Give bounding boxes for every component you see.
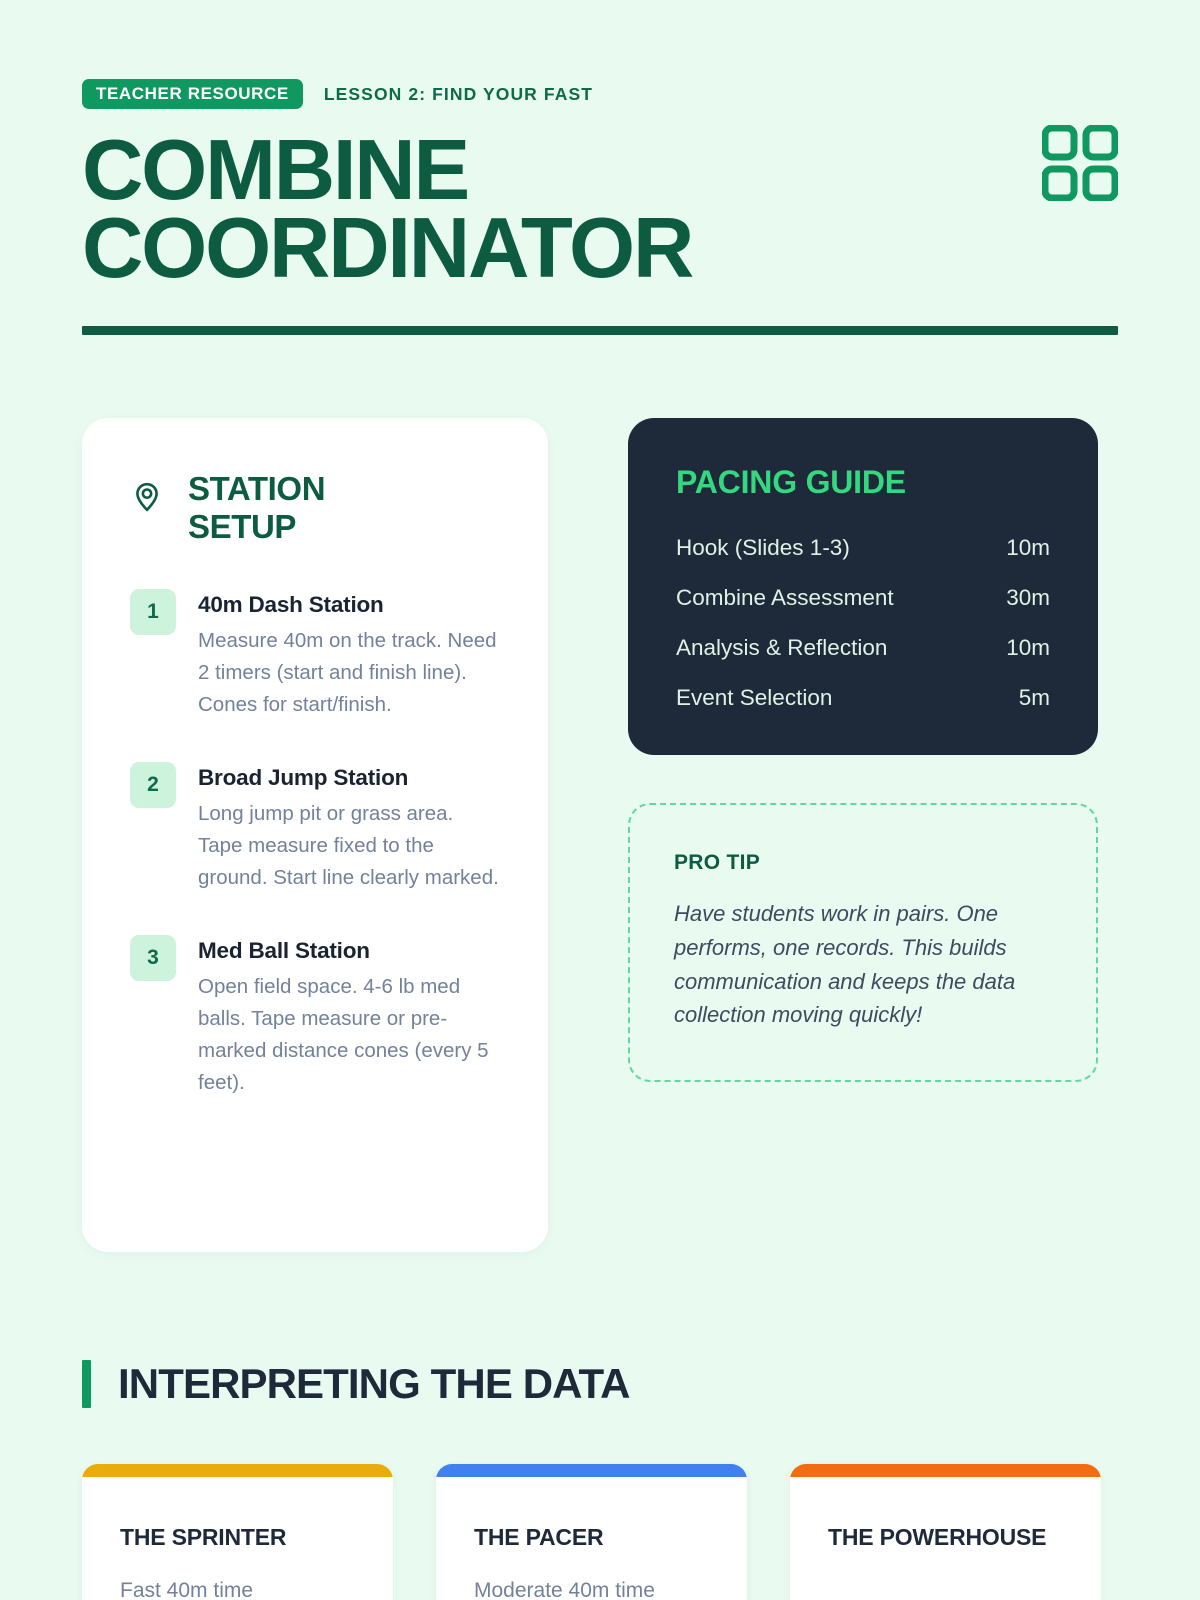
grid-2x2-icon [1042,125,1118,201]
pacing-guide-title: PACING GUIDE [676,464,1050,501]
page-title-line2: COORDINATOR [82,201,692,296]
athlete-type-desc: Fast 40m time [120,1575,355,1600]
header-divider [82,326,1118,335]
left-column: STATION SETUP 1 40m Dash Station Measure… [82,418,548,1252]
station-setup-title-line1: STATION [188,470,325,507]
right-column: PACING GUIDE Hook (Slides 1-3) 10m Combi… [628,418,1098,1252]
pro-tip-box: PRO TIP Have students work in pairs. One… [628,803,1098,1082]
station-number-badge: 3 [130,935,176,981]
main-content: STATION SETUP 1 40m Dash Station Measure… [82,418,1118,1252]
station-item-title: Broad Jump Station [198,765,500,791]
pacing-row-duration: 10m [1006,535,1050,561]
interpreting-section-title: INTERPRETING THE DATA [118,1360,630,1408]
pacing-row: Analysis & Reflection 10m [676,635,1050,661]
pacing-row: Event Selection 5m [676,685,1050,711]
station-item-title: 40m Dash Station [198,592,500,618]
station-item-body: Med Ball Station Open field space. 4-6 l… [198,935,500,1099]
athlete-type-cards: THE SPRINTER Fast 40m time THE PACER Mod… [82,1464,1118,1600]
pacing-row: Combine Assessment 30m [676,585,1050,611]
map-pin-icon [130,480,164,514]
station-item-body: Broad Jump Station Long jump pit or gras… [198,762,500,894]
pacing-row-duration: 10m [1006,635,1050,661]
station-setup-card: STATION SETUP 1 40m Dash Station Measure… [82,418,548,1252]
athlete-type-card-pacer: THE PACER Moderate 40m time [436,1464,747,1600]
page-title: COMBINE COORDINATOR [82,132,842,288]
section-accent-bar [82,1360,91,1408]
athlete-type-card-sprinter: THE SPRINTER Fast 40m time [82,1464,393,1600]
pro-tip-text: Have students work in pairs. One perform… [674,897,1052,1032]
athlete-type-title: THE SPRINTER [120,1523,355,1552]
card-body: THE SPRINTER Fast 40m time [82,1477,393,1600]
card-body: THE POWERHOUSE [790,1477,1101,1600]
pacing-row-label: Event Selection [676,685,832,711]
card-accent-bar [790,1464,1101,1477]
station-item: 1 40m Dash Station Measure 40m on the tr… [130,589,500,721]
station-item-desc: Open field space. 4-6 lb med balls. Tape… [198,971,500,1099]
pacing-guide-card: PACING GUIDE Hook (Slides 1-3) 10m Combi… [628,418,1098,755]
card-accent-bar [436,1464,747,1477]
page-header: TEACHER RESOURCE LESSON 2: FIND YOUR FAS… [82,0,1118,335]
station-setup-header: STATION SETUP [130,470,500,545]
station-item: 3 Med Ball Station Open field space. 4-6… [130,935,500,1099]
pacing-row-label: Hook (Slides 1-3) [676,535,850,561]
station-item-desc: Measure 40m on the track. Need 2 timers … [198,625,500,721]
pacing-row-duration: 30m [1006,585,1050,611]
interpreting-section-header: INTERPRETING THE DATA [82,1360,1118,1408]
card-accent-bar [82,1464,393,1477]
athlete-type-title: THE PACER [474,1523,709,1552]
card-body: THE PACER Moderate 40m time [436,1477,747,1600]
lesson-label: LESSON 2: FIND YOUR FAST [324,84,593,105]
teacher-resource-badge: TEACHER RESOURCE [82,79,303,109]
station-number-badge: 2 [130,762,176,808]
pacing-row: Hook (Slides 1-3) 10m [676,535,1050,561]
station-item-desc: Long jump pit or grass area. Tape measur… [198,798,500,894]
station-setup-title-line2: SETUP [188,508,296,545]
eyebrow-row: TEACHER RESOURCE LESSON 2: FIND YOUR FAS… [82,78,1118,110]
pacing-row-duration: 5m [1019,685,1050,711]
station-item-body: 40m Dash Station Measure 40m on the trac… [198,589,500,721]
pro-tip-label: PRO TIP [674,851,1052,875]
pacing-row-label: Analysis & Reflection [676,635,887,661]
station-setup-title: STATION SETUP [188,470,325,545]
athlete-type-desc: Moderate 40m time [474,1575,709,1600]
athlete-type-title: THE POWERHOUSE [828,1523,1063,1552]
station-item: 2 Broad Jump Station Long jump pit or gr… [130,762,500,894]
pacing-row-label: Combine Assessment [676,585,894,611]
station-number-badge: 1 [130,589,176,635]
page-root: TEACHER RESOURCE LESSON 2: FIND YOUR FAS… [0,0,1200,1600]
station-item-title: Med Ball Station [198,938,500,964]
athlete-type-card-powerhouse: THE POWERHOUSE [790,1464,1101,1600]
